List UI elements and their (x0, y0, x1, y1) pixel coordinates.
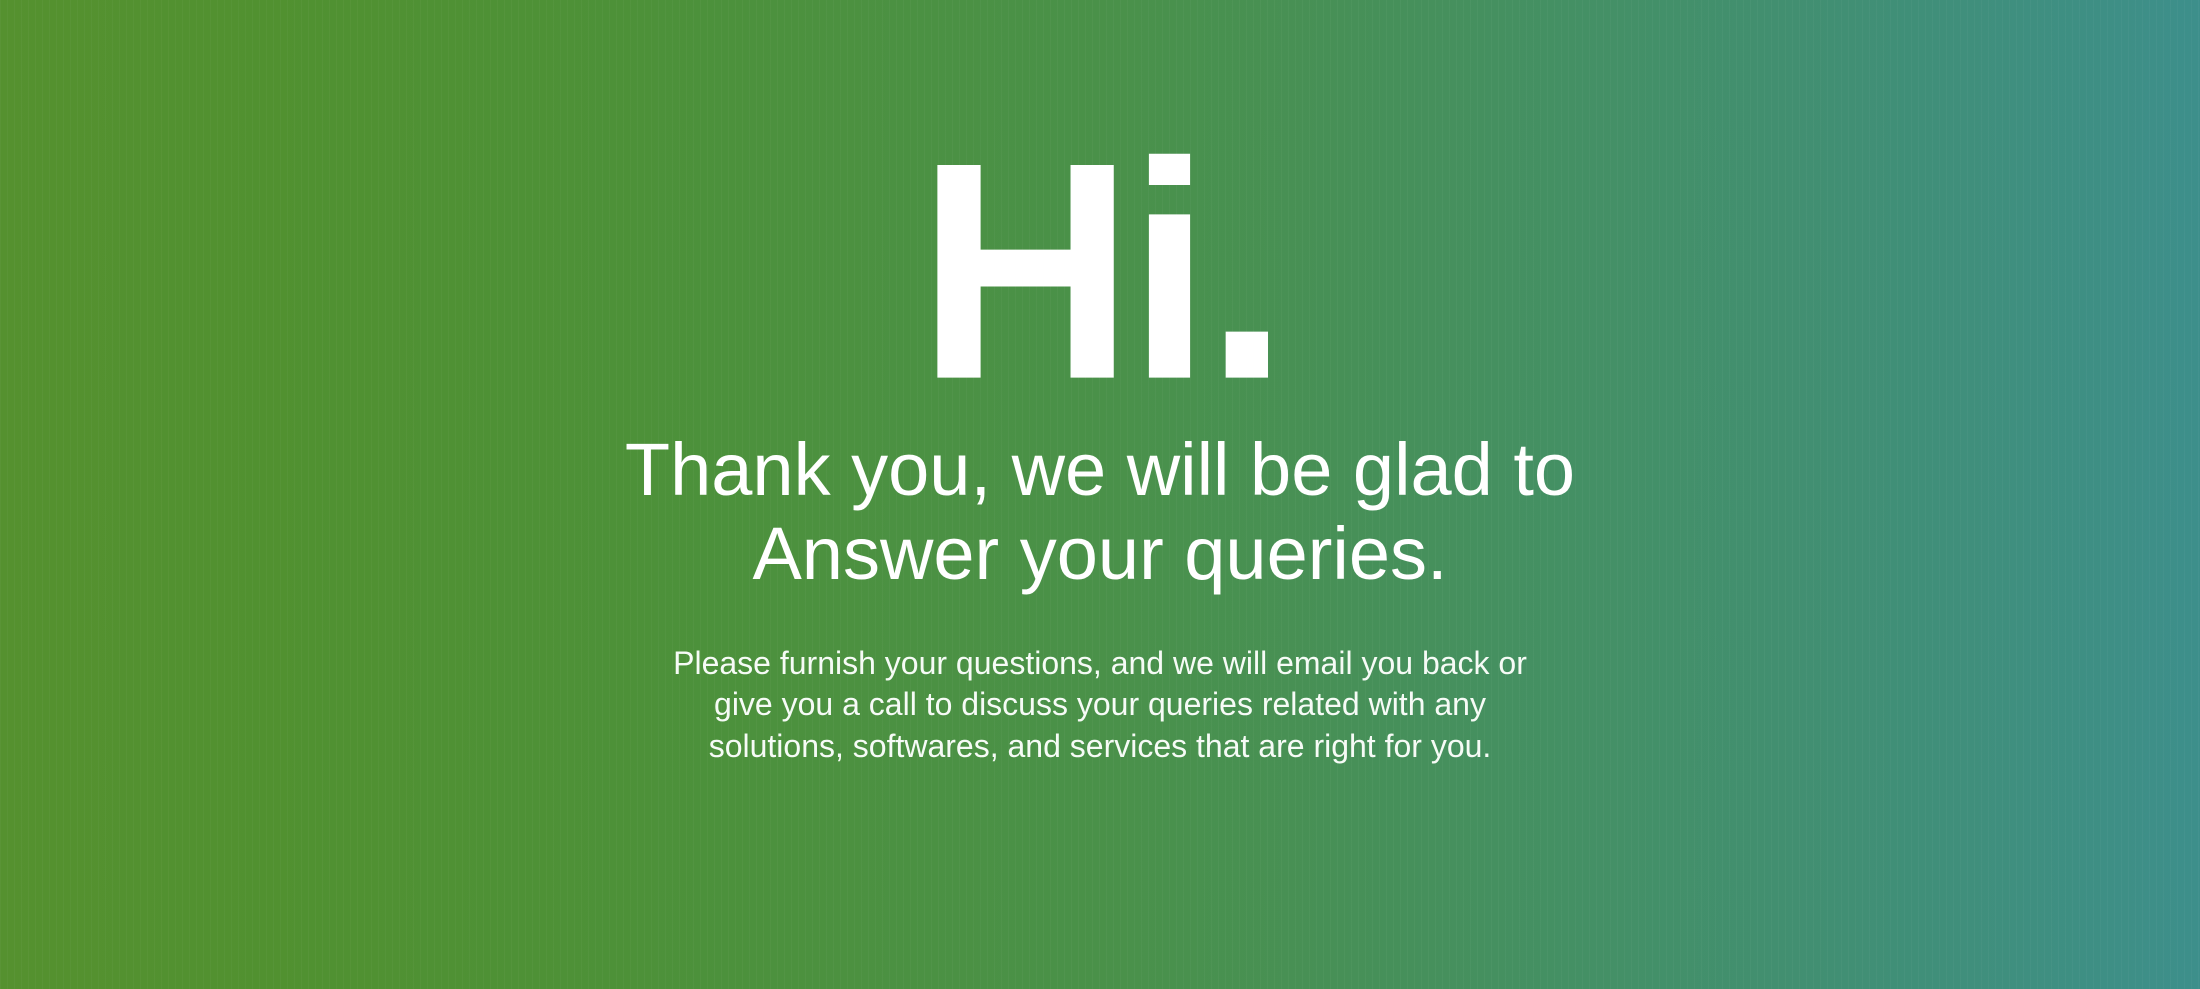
hero-content: Hi. Thank you, we will be glad to Answer… (510, 0, 1690, 768)
hero-headline: Thank you, we will be glad to Answer you… (510, 428, 1690, 597)
hero-paragraph-line-2: give you a call to discuss your queries … (650, 684, 1550, 726)
hero-greeting-heading: Hi. (510, 150, 1690, 391)
hero-paragraph-line-1: Please furnish your questions, and we wi… (650, 643, 1550, 685)
hero-paragraph: Please furnish your questions, and we wi… (650, 643, 1550, 768)
hero-headline-line-2: Answer your queries. (510, 512, 1690, 596)
hero-banner: Hi. Thank you, we will be glad to Answer… (0, 0, 2200, 989)
hero-paragraph-line-3: solutions, softwares, and services that … (650, 726, 1550, 768)
